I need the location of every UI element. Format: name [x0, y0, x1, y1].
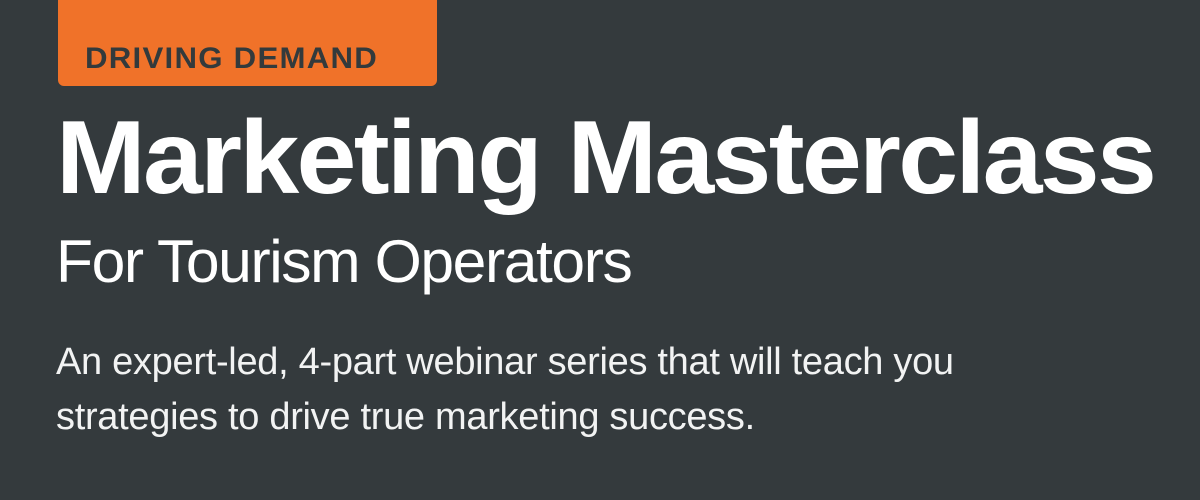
- page-title: Marketing Masterclass: [56, 106, 1200, 210]
- hero-banner: DRIVING DEMAND Marketing Masterclass For…: [0, 0, 1200, 500]
- eyebrow-badge-label: DRIVING DEMAND: [85, 44, 378, 74]
- headline-group: Marketing Masterclass For Tourism Operat…: [56, 106, 1166, 292]
- hero-description: An expert-led, 4-part webinar series tha…: [56, 335, 1116, 445]
- page-subtitle: For Tourism Operators: [56, 232, 1177, 292]
- eyebrow-badge: DRIVING DEMAND: [58, 0, 437, 86]
